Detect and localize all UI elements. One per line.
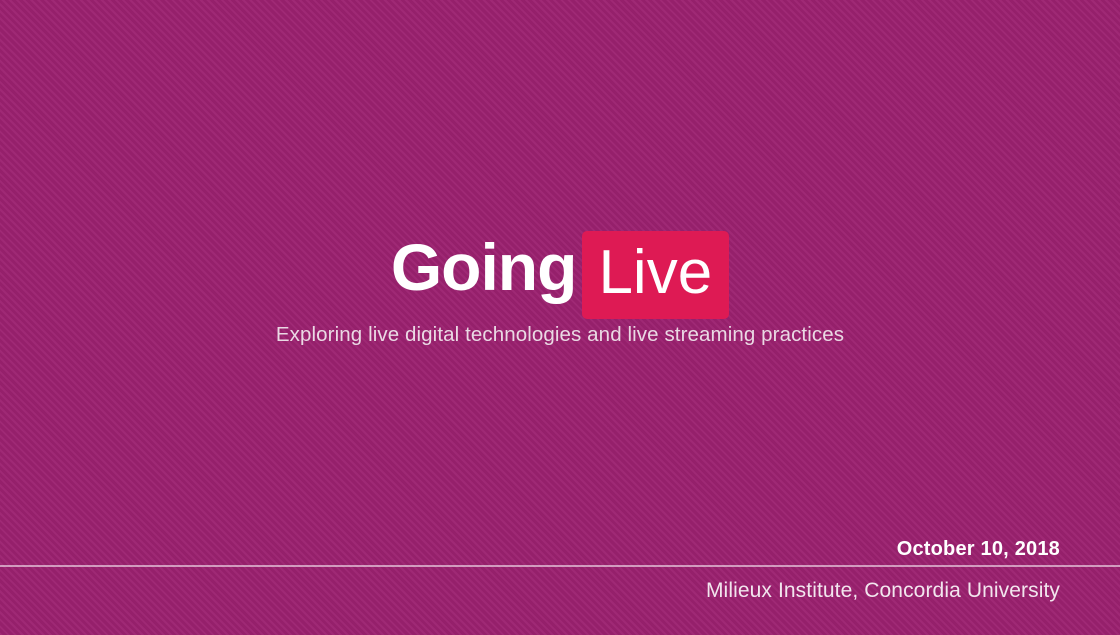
footer-venue: Milieux Institute, Concordia University: [706, 579, 1060, 603]
slide-subtitle: Exploring live digital technologies and …: [0, 323, 1120, 347]
slide-title: GoingLive: [0, 228, 1120, 316]
title-word-live-highlight: Live: [582, 231, 729, 319]
footer-divider: [0, 565, 1120, 567]
title-slide: GoingLive Exploring live digital technol…: [0, 0, 1120, 635]
title-word-going: Going: [391, 230, 577, 304]
title-line: GoingLive: [0, 228, 1120, 316]
footer-date: October 10, 2018: [897, 538, 1060, 561]
